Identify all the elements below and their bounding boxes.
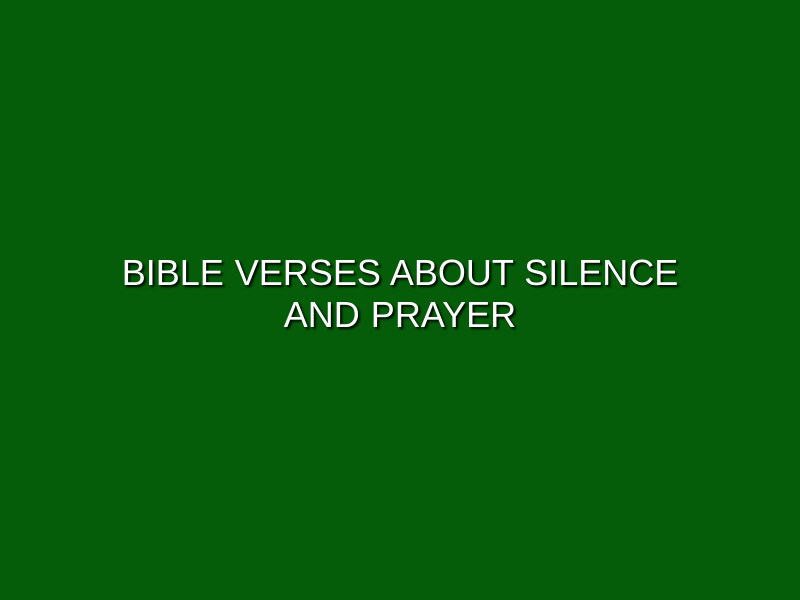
title-block: Bible Verses About Silence and Prayer xyxy=(100,252,700,336)
page-title: Bible Verses About Silence and Prayer xyxy=(100,252,700,336)
title-banner: Bible Verses About Silence and Prayer xyxy=(0,0,800,600)
